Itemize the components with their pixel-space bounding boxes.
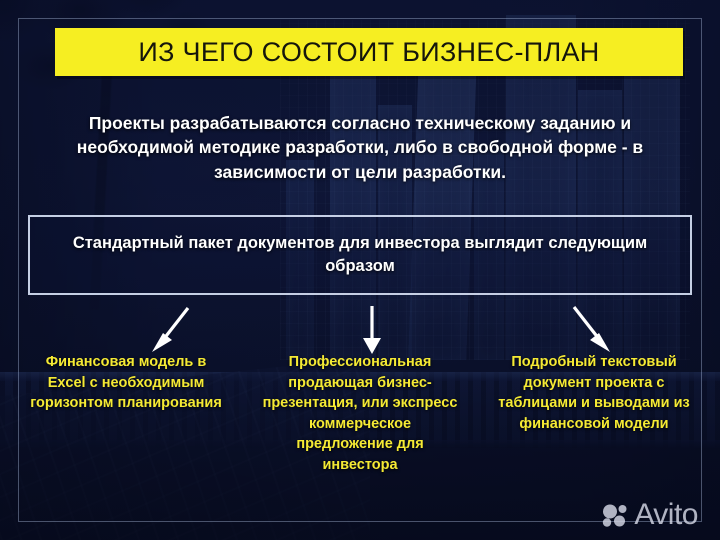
avito-watermark: Avito	[602, 500, 698, 530]
page-title: ИЗ ЧЕГО СОСТОИТ БИЗНЕС-ПЛАН	[138, 39, 599, 66]
column-text-document: Подробный текстовый документ проекта с т…	[496, 352, 692, 434]
arrow-down-right-icon	[574, 307, 610, 352]
sub-box-text: Стандартный пакет документов для инвесто…	[30, 232, 690, 279]
column-presentation: Профессиональная продающая бизнес-презен…	[262, 352, 458, 475]
arrow-down-icon	[363, 306, 381, 354]
avito-wordmark: Avito	[634, 500, 698, 530]
title-banner: ИЗ ЧЕГО СОСТОИТ БИЗНЕС-ПЛАН	[55, 28, 683, 76]
lead-paragraph: Проекты разрабатываются согласно техниче…	[28, 111, 692, 186]
slide-root: ИЗ ЧЕГО СОСТОИТ БИЗНЕС-ПЛАН Проекты разр…	[0, 0, 720, 540]
column-financial-model: Финансовая модель в Excel с необходимым …	[28, 352, 224, 414]
arrow-down-left-icon	[152, 308, 188, 352]
arrow-group	[0, 300, 720, 356]
columns-group: Финансовая модель в Excel с необходимым …	[28, 352, 692, 475]
sub-box: Стандартный пакет документов для инвесто…	[28, 215, 692, 295]
avito-dots-icon	[602, 503, 628, 527]
